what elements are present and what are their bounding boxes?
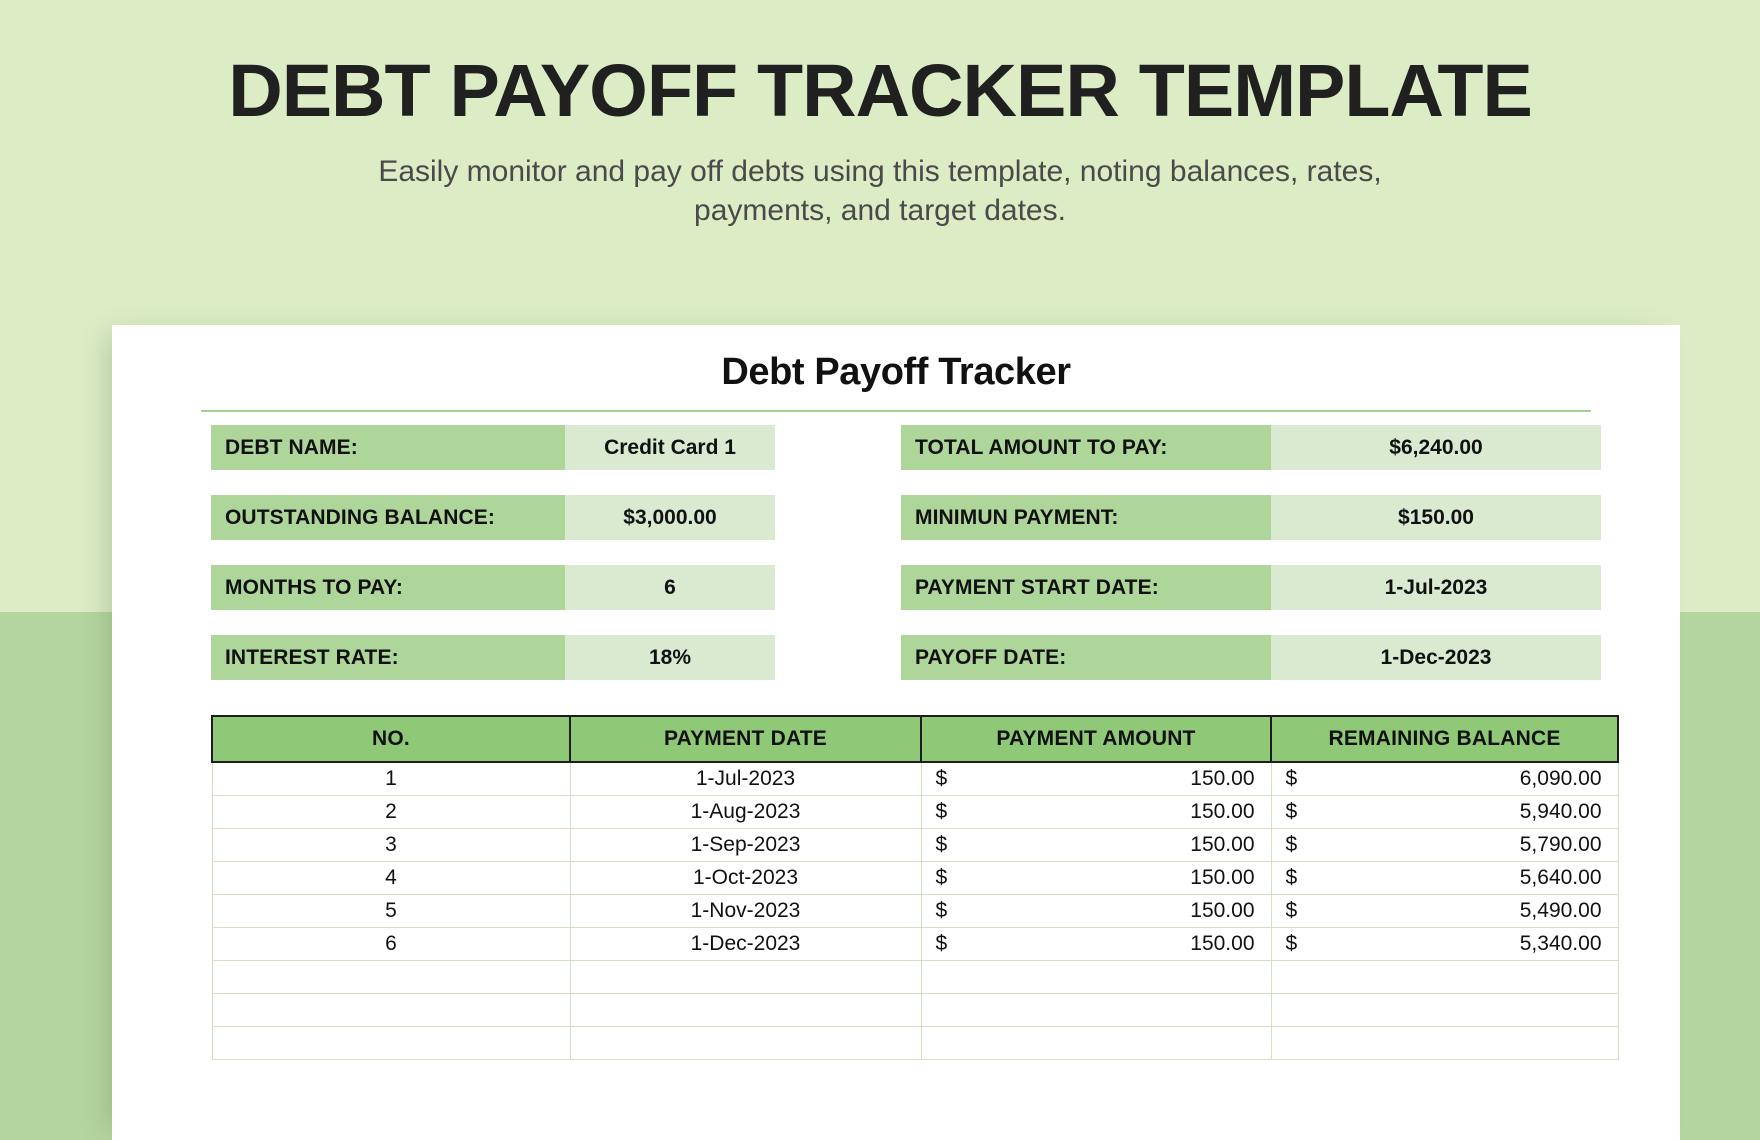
table-row-empty[interactable] bbox=[212, 1027, 1618, 1060]
column-header-no: NO. bbox=[212, 716, 570, 762]
cell-empty[interactable] bbox=[1271, 961, 1618, 994]
field-row: MONTHS TO PAY:6PAYMENT START DATE:1-Jul-… bbox=[211, 565, 1601, 610]
table-row[interactable]: 31-Sep-2023$150.00$5,790.00 bbox=[212, 829, 1618, 862]
cell-empty[interactable] bbox=[570, 961, 921, 994]
field-row: INTEREST RATE:18%PAYOFF DATE:1-Dec-2023 bbox=[211, 635, 1601, 680]
field-value[interactable]: $3,000.00 bbox=[565, 495, 775, 540]
cell-no[interactable]: 5 bbox=[212, 895, 570, 928]
cell-payment-date[interactable]: 1-Oct-2023 bbox=[570, 862, 921, 895]
table-header-row: NO. PAYMENT DATE PAYMENT AMOUNT REMAININ… bbox=[212, 716, 1618, 762]
field-pair-left: DEBT NAME:Credit Card 1 bbox=[211, 425, 775, 470]
currency-symbol: $ bbox=[936, 800, 948, 824]
table-body: 11-Jul-2023$150.00$6,090.0021-Aug-2023$1… bbox=[212, 762, 1618, 1060]
cell-empty[interactable] bbox=[212, 961, 570, 994]
field-pair-right: PAYOFF DATE:1-Dec-2023 bbox=[901, 635, 1601, 680]
field-label: DEBT NAME: bbox=[211, 425, 565, 470]
currency-symbol: $ bbox=[936, 932, 948, 956]
cell-empty[interactable] bbox=[1271, 994, 1618, 1027]
column-header-payment-date: PAYMENT DATE bbox=[570, 716, 921, 762]
currency-amount: 5,790.00 bbox=[1520, 833, 1602, 856]
cell-empty[interactable] bbox=[570, 994, 921, 1027]
field-pair-right: TOTAL AMOUNT TO PAY:$6,240.00 bbox=[901, 425, 1601, 470]
field-value[interactable]: 6 bbox=[565, 565, 775, 610]
currency-symbol: $ bbox=[936, 833, 948, 857]
field-label: PAYOFF DATE: bbox=[901, 635, 1271, 680]
cell-no[interactable]: 1 bbox=[212, 762, 570, 796]
cell-no[interactable]: 4 bbox=[212, 862, 570, 895]
field-value[interactable]: 1-Dec-2023 bbox=[1271, 635, 1601, 680]
cell-remaining-balance[interactable]: $5,640.00 bbox=[1271, 862, 1618, 895]
currency-symbol: $ bbox=[1286, 833, 1298, 857]
cell-empty[interactable] bbox=[212, 1027, 570, 1060]
cell-payment-amount[interactable]: $150.00 bbox=[921, 862, 1271, 895]
currency-amount: 6,090.00 bbox=[1520, 767, 1602, 790]
field-row: OUTSTANDING BALANCE:$3,000.00MINIMUN PAY… bbox=[211, 495, 1601, 540]
field-label: PAYMENT START DATE: bbox=[901, 565, 1271, 610]
field-value[interactable]: $6,240.00 bbox=[1271, 425, 1601, 470]
column-header-payment-amount: PAYMENT AMOUNT bbox=[921, 716, 1271, 762]
cell-remaining-balance[interactable]: $5,790.00 bbox=[1271, 829, 1618, 862]
currency-symbol: $ bbox=[936, 866, 948, 890]
field-label: TOTAL AMOUNT TO PAY: bbox=[901, 425, 1271, 470]
table-row[interactable]: 11-Jul-2023$150.00$6,090.00 bbox=[212, 762, 1618, 796]
cell-empty[interactable] bbox=[212, 994, 570, 1027]
currency-symbol: $ bbox=[1286, 767, 1298, 791]
field-label: OUTSTANDING BALANCE: bbox=[211, 495, 565, 540]
currency-amount: 5,640.00 bbox=[1520, 866, 1602, 889]
cell-payment-amount[interactable]: $150.00 bbox=[921, 762, 1271, 796]
summary-fields: DEBT NAME:Credit Card 1TOTAL AMOUNT TO P… bbox=[211, 425, 1601, 705]
title-divider bbox=[201, 410, 1591, 412]
field-label: MONTHS TO PAY: bbox=[211, 565, 565, 610]
cell-payment-amount[interactable]: $150.00 bbox=[921, 895, 1271, 928]
field-value[interactable]: Credit Card 1 bbox=[565, 425, 775, 470]
currency-amount: 150.00 bbox=[1190, 833, 1254, 856]
currency-amount: 150.00 bbox=[1190, 800, 1254, 823]
field-pair-left: INTEREST RATE:18% bbox=[211, 635, 775, 680]
sheet-title: Debt Payoff Tracker bbox=[112, 325, 1680, 394]
currency-symbol: $ bbox=[1286, 899, 1298, 923]
page-title: DEBT PAYOFF TRACKER TEMPLATE bbox=[0, 0, 1760, 130]
spreadsheet-sheet: Debt Payoff Tracker DEBT NAME:Credit Car… bbox=[112, 325, 1680, 1140]
cell-payment-date[interactable]: 1-Nov-2023 bbox=[570, 895, 921, 928]
currency-amount: 5,940.00 bbox=[1520, 800, 1602, 823]
cell-payment-date[interactable]: 1-Jul-2023 bbox=[570, 762, 921, 796]
cell-empty[interactable] bbox=[1271, 1027, 1618, 1060]
cell-empty[interactable] bbox=[921, 961, 1271, 994]
field-row: DEBT NAME:Credit Card 1TOTAL AMOUNT TO P… bbox=[211, 425, 1601, 470]
table-header: NO. PAYMENT DATE PAYMENT AMOUNT REMAININ… bbox=[212, 716, 1618, 762]
field-label: INTEREST RATE: bbox=[211, 635, 565, 680]
cell-remaining-balance[interactable]: $5,340.00 bbox=[1271, 928, 1618, 961]
cell-payment-amount[interactable]: $150.00 bbox=[921, 928, 1271, 961]
cell-payment-date[interactable]: 1-Dec-2023 bbox=[570, 928, 921, 961]
cell-no[interactable]: 6 bbox=[212, 928, 570, 961]
cell-no[interactable]: 2 bbox=[212, 796, 570, 829]
field-value[interactable]: 18% bbox=[565, 635, 775, 680]
cell-no[interactable]: 3 bbox=[212, 829, 570, 862]
field-pair-right: PAYMENT START DATE:1-Jul-2023 bbox=[901, 565, 1601, 610]
table-row-empty[interactable] bbox=[212, 961, 1618, 994]
currency-amount: 5,490.00 bbox=[1520, 899, 1602, 922]
field-value[interactable]: $150.00 bbox=[1271, 495, 1601, 540]
cell-remaining-balance[interactable]: $5,940.00 bbox=[1271, 796, 1618, 829]
table-row[interactable]: 61-Dec-2023$150.00$5,340.00 bbox=[212, 928, 1618, 961]
currency-symbol: $ bbox=[1286, 866, 1298, 890]
currency-amount: 150.00 bbox=[1190, 866, 1254, 889]
field-pair-left: OUTSTANDING BALANCE:$3,000.00 bbox=[211, 495, 775, 540]
currency-symbol: $ bbox=[936, 899, 948, 923]
table-row[interactable]: 41-Oct-2023$150.00$5,640.00 bbox=[212, 862, 1618, 895]
payment-schedule-table: NO. PAYMENT DATE PAYMENT AMOUNT REMAININ… bbox=[211, 715, 1619, 1060]
currency-amount: 5,340.00 bbox=[1520, 932, 1602, 955]
table-row[interactable]: 21-Aug-2023$150.00$5,940.00 bbox=[212, 796, 1618, 829]
cell-empty[interactable] bbox=[921, 1027, 1271, 1060]
cell-payment-date[interactable]: 1-Aug-2023 bbox=[570, 796, 921, 829]
cell-payment-amount[interactable]: $150.00 bbox=[921, 829, 1271, 862]
table-row[interactable]: 51-Nov-2023$150.00$5,490.00 bbox=[212, 895, 1618, 928]
currency-amount: 150.00 bbox=[1190, 932, 1254, 955]
currency-symbol: $ bbox=[936, 767, 948, 791]
cell-empty[interactable] bbox=[570, 1027, 921, 1060]
cell-payment-date[interactable]: 1-Sep-2023 bbox=[570, 829, 921, 862]
currency-symbol: $ bbox=[1286, 932, 1298, 956]
currency-symbol: $ bbox=[1286, 800, 1298, 824]
currency-amount: 150.00 bbox=[1190, 899, 1254, 922]
field-label: MINIMUN PAYMENT: bbox=[901, 495, 1271, 540]
cell-payment-amount[interactable]: $150.00 bbox=[921, 796, 1271, 829]
column-header-remaining-balance: REMAINING BALANCE bbox=[1271, 716, 1618, 762]
currency-amount: 150.00 bbox=[1190, 767, 1254, 790]
cell-remaining-balance[interactable]: $5,490.00 bbox=[1271, 895, 1618, 928]
field-pair-left: MONTHS TO PAY:6 bbox=[211, 565, 775, 610]
table-row-empty[interactable] bbox=[212, 994, 1618, 1027]
page-header: DEBT PAYOFF TRACKER TEMPLATE Easily moni… bbox=[0, 0, 1760, 231]
page-subtitle: Easily monitor and pay off debts using t… bbox=[320, 152, 1440, 231]
cell-remaining-balance[interactable]: $6,090.00 bbox=[1271, 762, 1618, 796]
field-value[interactable]: 1-Jul-2023 bbox=[1271, 565, 1601, 610]
cell-empty[interactable] bbox=[921, 994, 1271, 1027]
field-pair-right: MINIMUN PAYMENT:$150.00 bbox=[901, 495, 1601, 540]
